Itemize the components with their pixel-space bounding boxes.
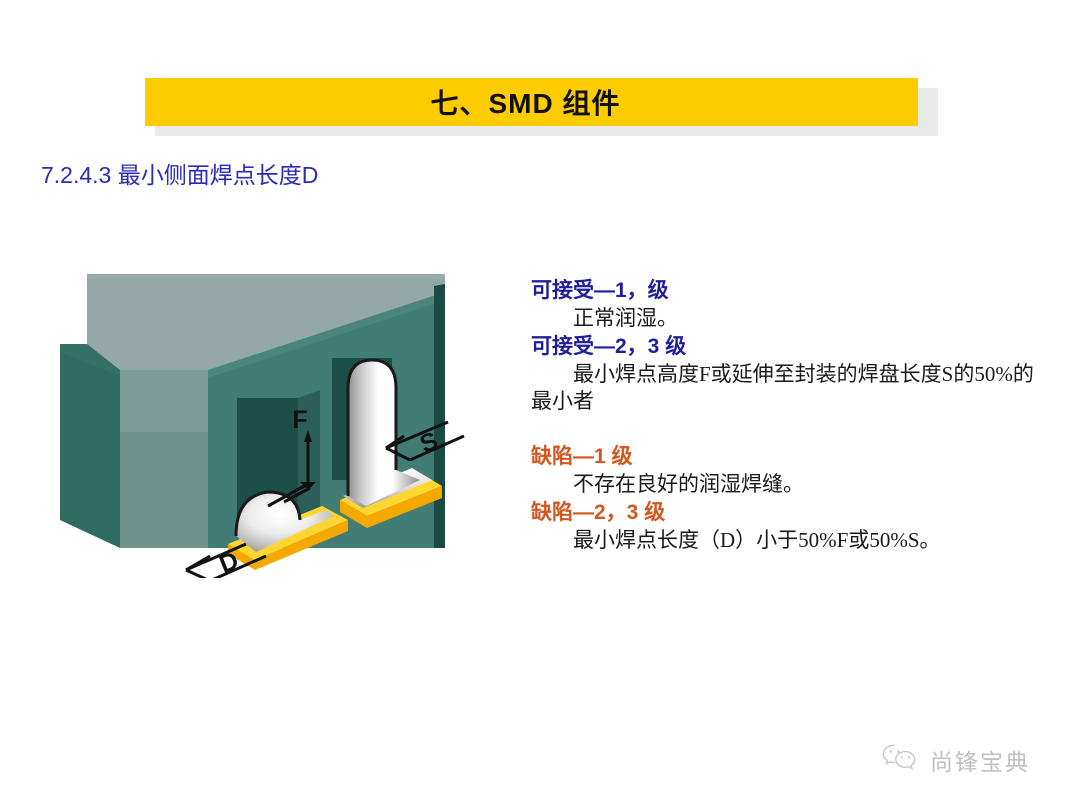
title-banner-container: 七、SMD 组件 [145,78,938,136]
criteria-heading-accept-1: 可接受—1，级 [531,278,1036,305]
criteria-column: 可接受—1，级 正常润湿。 可接受—2，3 级 最小焊点高度F或延伸至封装的焊盘… [531,278,1036,556]
criteria-block-defect-1: 缺陷—1 级 不存在良好的润湿焊缝。 [531,444,1036,498]
brand-name: 尚锋宝典 [930,743,1030,777]
slide-title: 七、SMD 组件 [430,82,620,122]
title-banner: 七、SMD 组件 [145,78,918,126]
criteria-heading-defect-2: 缺陷—2，3 级 [531,500,1036,527]
criteria-body-accept-2: 最小焊点高度F或延伸至封装的焊盘长度S的50%的最小者 [531,361,1036,416]
board-chamfer-face [120,370,208,548]
board-left-face [60,344,120,548]
criteria-spacer [531,418,1036,444]
dimension-label-F: F [292,406,307,434]
wechat-icon [880,742,920,777]
criteria-block-defect-2: 缺陷—2，3 级 最小焊点长度（D）小于50%F或50%S。 [531,500,1036,554]
board-right-edge-strip [434,284,445,548]
criteria-block-accept-2: 可接受—2，3 级 最小焊点高度F或延伸至封装的焊盘长度S的50%的最小者 [531,334,1036,415]
illustration-smd-side-joint: F S D [60,248,470,578]
criteria-heading-defect-1: 缺陷—1 级 [531,444,1036,471]
criteria-heading-accept-2: 可接受—2，3 级 [531,334,1036,361]
criteria-body-accept-1: 正常润湿。 [531,305,1036,332]
criteria-body-defect-2: 最小焊点长度（D）小于50%F或50%S。 [531,527,1036,554]
criteria-body-defect-1: 不存在良好的润湿焊缝。 [531,471,1036,498]
criteria-block-accept-1: 可接受—1，级 正常润湿。 [531,278,1036,332]
brand-logo: 尚锋宝典 [880,742,1030,777]
section-heading: 7.2.4.3 最小侧面焊点长度D [41,156,318,190]
